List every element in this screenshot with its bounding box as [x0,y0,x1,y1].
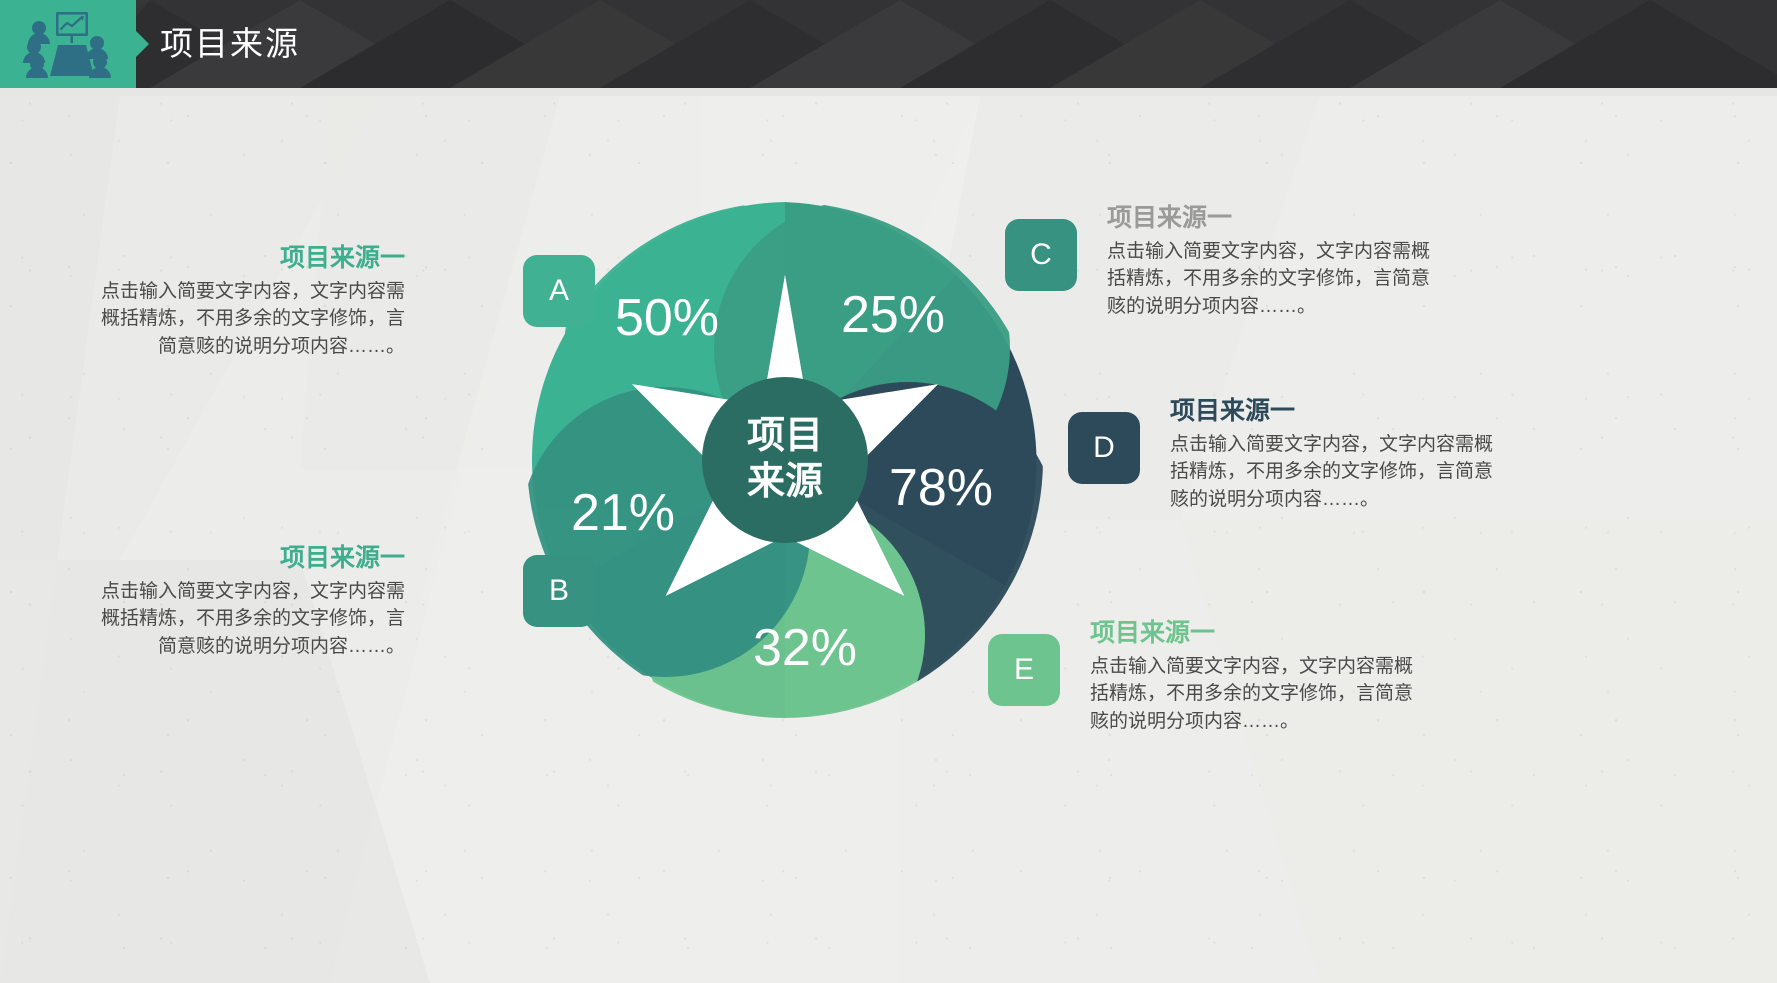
header-divider [0,88,1777,96]
value-label-50: 50% [615,289,719,347]
page-title: 项目来源 [160,0,300,88]
item-e-title: 项目来源一 [1090,620,1420,648]
center-circle [702,377,868,543]
slide-canvas: 项目来源 [0,0,1777,983]
value-label-32: 32% [753,619,857,677]
value-label-25: 25% [841,286,945,344]
badge-e[interactable]: E [988,634,1060,706]
item-c-title: 项目来源一 [1107,205,1437,233]
center-label-line2: 来源 [747,461,823,503]
badge-c[interactable]: C [1005,219,1077,291]
value-label-78: 78% [889,459,993,517]
item-a-title: 项目来源一 [95,245,405,273]
item-d-title: 项目来源一 [1170,398,1498,426]
item-b-title: 项目来源一 [95,545,405,573]
slide-header: 项目来源 [0,0,1777,88]
center-label-line1: 项目 [747,415,823,457]
item-e-body: 点击输入简要文字内容，文字内容需概括精炼，不用多余的文字修饰，言简意赅的说明分项… [1090,653,1420,736]
item-d-body: 点击输入简要文字内容，文字内容需概括精炼，不用多余的文字修饰，言简意赅的说明分项… [1170,431,1498,514]
item-c-body: 点击输入简要文字内容，文字内容需概括精炼，不用多余的文字修饰，言简意赅的说明分项… [1107,238,1437,321]
item-b-body: 点击输入简要文字内容，文字内容需概括精炼，不用多余的文字修饰，言简意赅的说明分项… [95,578,405,661]
item-a-body: 点击输入简要文字内容，文字内容需概括精炼，不用多余的文字修饰，言简意赅的说明分项… [95,278,405,361]
badge-a[interactable]: A [523,255,595,327]
presentation-meeting-icon [22,10,114,78]
value-label-21: 21% [571,484,675,542]
badge-b[interactable]: B [523,555,595,627]
badge-d[interactable]: D [1068,412,1140,484]
